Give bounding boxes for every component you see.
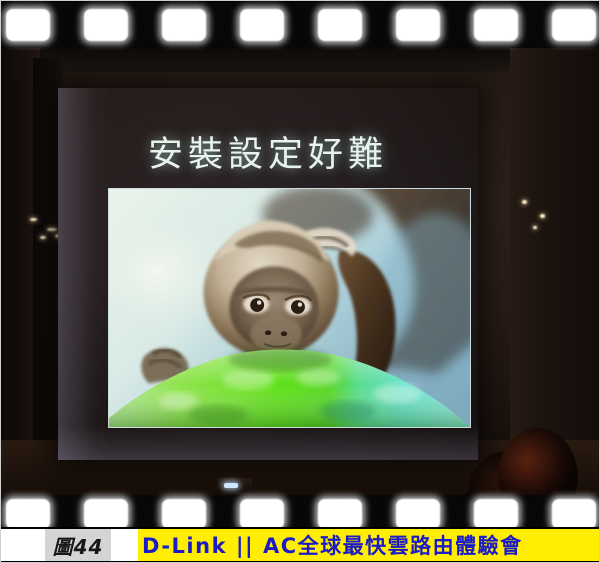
slide-photo-monkey — [108, 188, 471, 428]
sprocket-hole — [318, 9, 362, 41]
caption-top-rule — [0, 527, 600, 529]
sprocket-hole — [240, 9, 284, 41]
caption-bar: 圖44 D-Link || AC全球最快雲路由體驗會 — [0, 527, 600, 563]
wall-light-glint — [40, 236, 46, 239]
wall-light-glint — [47, 228, 57, 231]
equipment-led — [224, 483, 238, 488]
sprocket-hole — [84, 499, 128, 529]
figure-label: 圖44 — [45, 527, 111, 563]
wall-light-glint — [540, 214, 545, 218]
sprocket-hole — [474, 9, 518, 41]
sprocket-hole — [474, 499, 518, 529]
film-strip-bottom — [0, 495, 600, 527]
screen-bottom-glow — [58, 426, 478, 460]
sprocket-hole — [552, 9, 596, 41]
wall-light-glint — [30, 218, 37, 221]
sprocket-hole — [396, 499, 440, 529]
wall-light-glint — [533, 226, 537, 229]
sprocket-hole — [318, 499, 362, 529]
monkey-photo-illustration — [109, 189, 470, 427]
caption-text: D-Link || AC全球最快雲路由體驗會 — [142, 527, 598, 563]
sprocket-hole — [6, 9, 50, 41]
sprocket-hole — [552, 499, 596, 529]
projection-screen: 安裝設定好難 — [58, 88, 478, 460]
sprocket-hole — [162, 499, 206, 529]
sprocket-hole — [84, 9, 128, 41]
screenshot-root: 安裝設定好難 — [0, 0, 600, 563]
sprocket-hole — [396, 9, 440, 41]
slide-title: 安裝設定好難 — [58, 126, 478, 177]
film-strip-top — [0, 2, 600, 48]
wall-light-glint — [522, 200, 527, 204]
sprocket-hole — [6, 499, 50, 529]
sprocket-hole — [162, 9, 206, 41]
sprocket-hole — [240, 499, 284, 529]
